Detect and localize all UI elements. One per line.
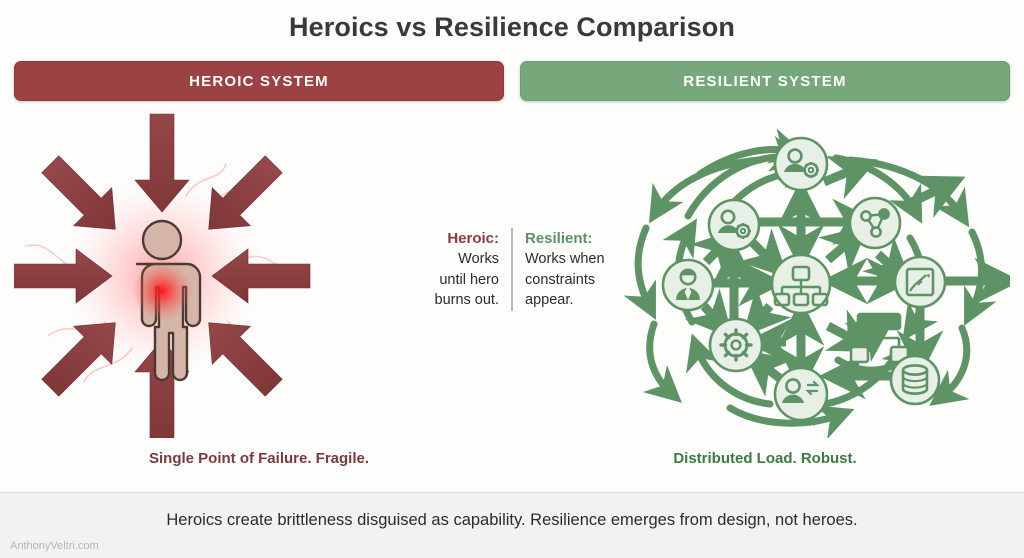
comparison-resilient-heading: Resilient:	[525, 228, 608, 249]
banner-heroic-system: HEROIC SYSTEM	[14, 61, 504, 101]
resilient-diagram	[610, 108, 1010, 438]
caption-heroic: Single Point of Failure. Fragile.	[14, 450, 504, 467]
outer-arrow-se	[940, 328, 967, 398]
comparison-heroic-heading: Heroic:	[418, 228, 499, 249]
heroic-diagram	[14, 108, 414, 438]
comparison-resilient-column: Resilient: Works when constraints appear…	[513, 228, 608, 311]
comparison-resilient-line3: appear.	[525, 290, 608, 311]
resilient-diagram-svg	[610, 108, 1010, 438]
spoke-ul-to-center	[752, 242, 776, 266]
watermark-attribution: AnthonyVeltri.com	[10, 540, 99, 552]
comparison-text-block: Heroic: Works until hero burns out. Resi…	[418, 228, 608, 311]
node-document-chart-right	[895, 257, 945, 307]
banner-resilient-system: RESILIENT SYSTEM	[520, 61, 1010, 101]
spoke-center-to-ll	[754, 306, 770, 324]
node-person-gear-upper-left	[709, 200, 759, 250]
node-share-nodes-upper-right	[850, 198, 900, 248]
node-person-exchange-bottom	[775, 368, 827, 420]
node-hierarchy-center	[772, 255, 830, 313]
banner-resilient-label: RESILIENT SYSTEM	[683, 73, 846, 90]
org-chart-icon	[851, 314, 908, 362]
infographic-root: Heroics vs Resilience Comparison HEROIC …	[0, 0, 1024, 558]
caption-resilient: Distributed Load. Robust.	[520, 450, 1010, 467]
comparison-resilient-line2: constraints	[525, 270, 608, 291]
spoke-bottom-to-ll	[756, 360, 782, 380]
comparison-heroic-line2: until hero	[418, 270, 499, 291]
outer-arrow-e	[970, 232, 982, 314]
spoke-center-to-org	[828, 326, 862, 344]
node-business-person-left	[663, 260, 713, 310]
banner-heroic-label: HEROIC SYSTEM	[189, 73, 329, 90]
spoke-left-to-ll	[704, 306, 722, 326]
comparison-resilient-line1: Works when	[525, 249, 608, 270]
comparison-heroic-line3: burns out.	[418, 290, 499, 311]
node-person-gear-top	[775, 138, 827, 190]
footer-tagline: Heroics create brittleness disguised as …	[0, 511, 1024, 530]
outer-arrow-sw	[650, 324, 672, 394]
footer-bar: Heroics create brittleness disguised as …	[0, 492, 1024, 558]
page-title: Heroics vs Resilience Comparison	[0, 12, 1024, 43]
outer-arrow-w	[638, 228, 650, 308]
comparison-heroic-column: Heroic: Works until hero burns out.	[418, 228, 513, 311]
node-database	[891, 356, 939, 404]
spoke-center-to-ur	[828, 236, 856, 260]
heroic-diagram-svg	[14, 108, 414, 438]
comparison-heroic-line1: Works	[418, 249, 499, 270]
spoke-top-outward	[824, 166, 862, 182]
node-gear-lower-left	[710, 319, 762, 371]
